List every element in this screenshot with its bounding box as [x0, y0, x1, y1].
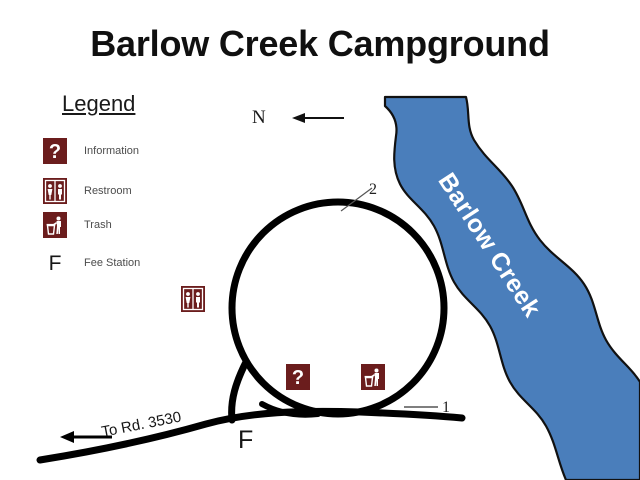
legend: Legend ? Information: [42, 92, 222, 116]
compass-north-label: N: [252, 108, 266, 127]
map-marker-trash[interactable]: [361, 364, 385, 390]
legend-heading: Legend: [62, 92, 222, 116]
compass: N: [252, 108, 348, 127]
information-icon-wrap: ?: [42, 138, 68, 164]
legend-item-information[interactable]: ? Information: [42, 136, 139, 166]
loop-road: [232, 202, 444, 414]
information-icon: ?: [286, 364, 310, 390]
legend-item-trash[interactable]: Trash: [42, 210, 112, 240]
fee-station-glyph: F: [49, 253, 62, 274]
loop-number-1: 1: [442, 399, 450, 417]
loop-spur-west: [232, 362, 246, 420]
west-arrow-icon: [288, 109, 348, 127]
fee-station-glyph-wrap: F: [42, 253, 68, 274]
restroom-icon: [181, 286, 205, 312]
restroom-icon: [43, 178, 67, 204]
svg-text:?: ?: [49, 141, 61, 163]
trash-icon: [43, 212, 67, 238]
legend-item-restroom[interactable]: Restroom: [42, 176, 132, 206]
legend-label-information: Information: [84, 145, 139, 157]
information-icon: ?: [43, 138, 67, 164]
legend-label-trash: Trash: [84, 219, 112, 231]
road-network: [0, 0, 640, 480]
legend-item-fee-station[interactable]: F Fee Station: [42, 248, 140, 278]
trash-icon: [361, 364, 385, 390]
restroom-icon-wrap: [42, 178, 68, 204]
legend-label-restroom: Restroom: [84, 185, 132, 197]
campground-map: Barlow Creek Campground Barlow Creek To …: [0, 0, 640, 480]
map-marker-restroom[interactable]: [181, 286, 205, 312]
map-marker-information[interactable]: ?: [286, 364, 310, 390]
trash-icon-wrap: [42, 212, 68, 238]
loop-number-2: 2: [369, 181, 377, 199]
legend-label-fee-station: Fee Station: [84, 257, 140, 269]
svg-text:?: ?: [292, 367, 304, 389]
map-marker-fee-station[interactable]: F: [238, 428, 253, 453]
